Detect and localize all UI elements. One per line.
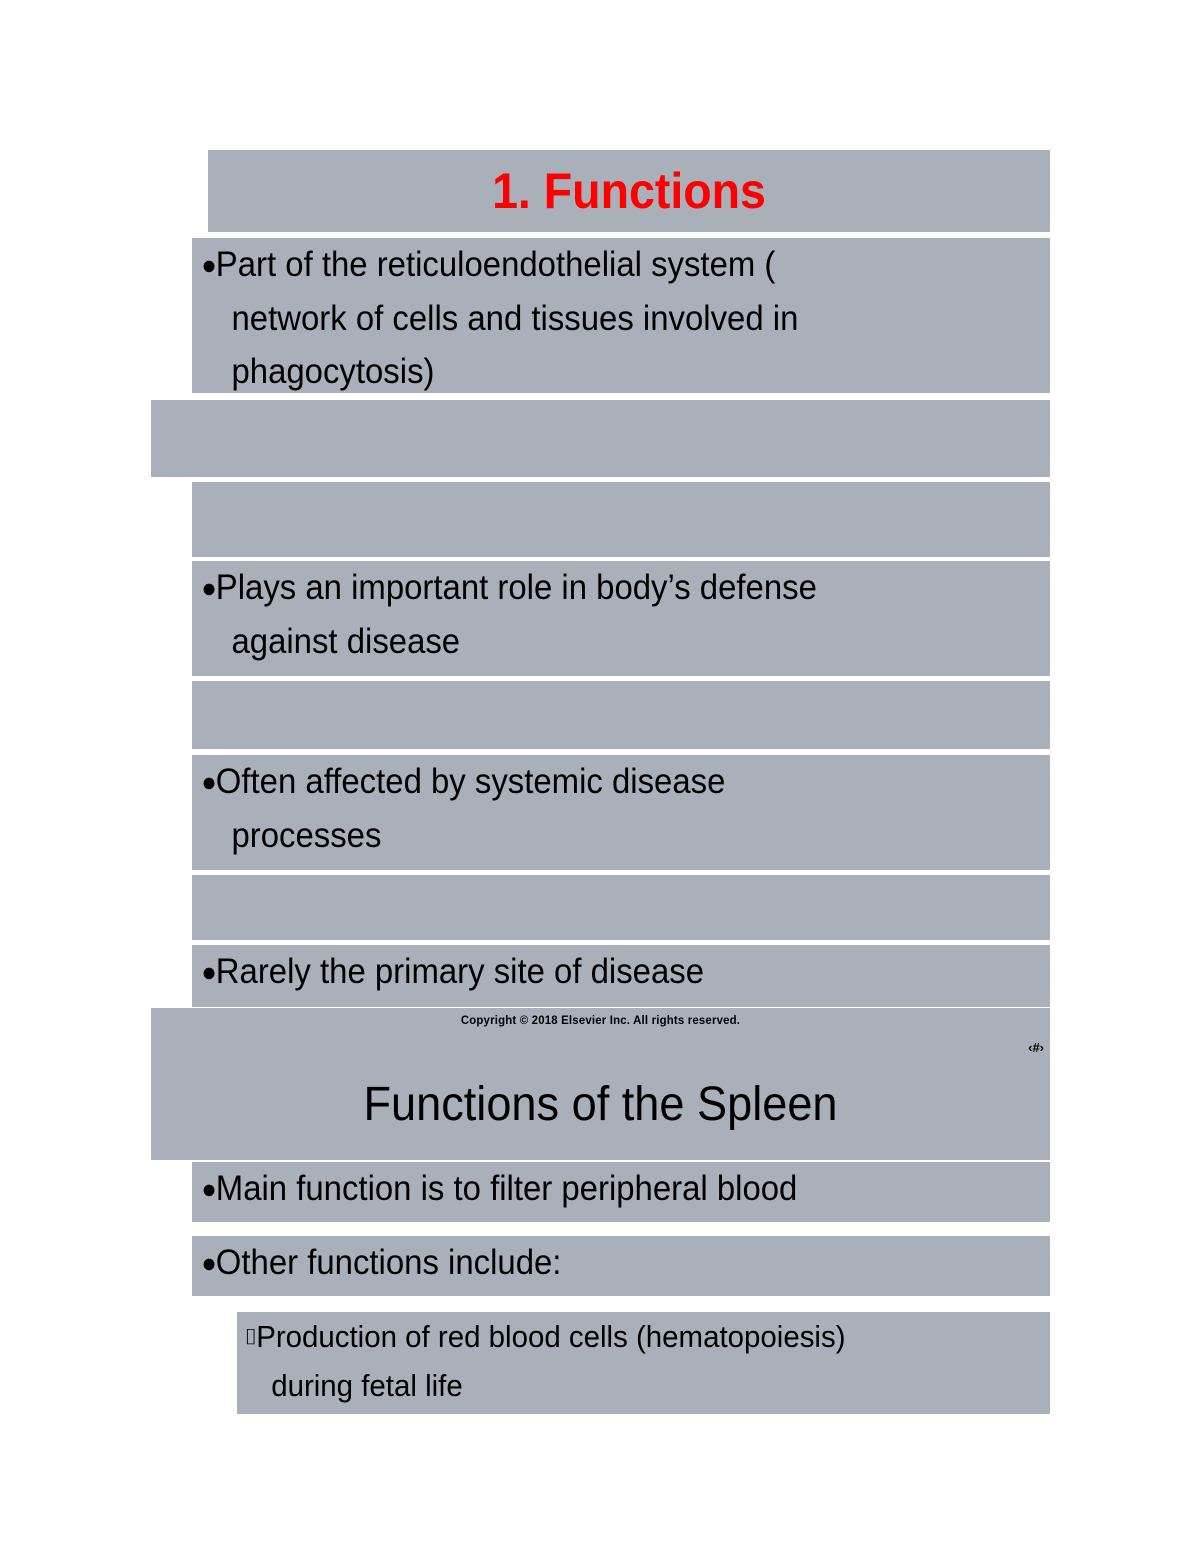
slide1-bullet-2: ●Plays an important role in body’s defen…	[192, 561, 999, 668]
slide1-bullet-4: ●Rarely the primary site of disease	[192, 945, 999, 999]
slide1-blank-band-after-bullet-3	[192, 875, 1050, 940]
slide1-title-band: 1. Functions	[208, 150, 1050, 232]
slide-handout-page: 1. Functions ●Part of the reticuloendoth…	[0, 0, 1200, 1553]
slide2-bullet-2-band: ●Other functions include:	[192, 1236, 1050, 1296]
bullet-disc-icon: ●	[201, 573, 215, 603]
slide1-bullet-3-band: ●Often affected by systemic disease proc…	[192, 755, 1050, 870]
bullet-line-1: Main function is to filter peripheral bl…	[216, 1169, 798, 1208]
bullet-line-1: Often affected by systemic disease	[216, 762, 726, 801]
bullet-disc-icon: ●	[201, 767, 215, 797]
slide1-bullet-1: ●Part of the reticuloendothelial system …	[192, 238, 999, 398]
bullet-line-2: network of cells and tissues involved in	[201, 292, 992, 345]
slide2-sub-bullet-1-band: ⌷Production of red blood cells (hematopo…	[237, 1312, 1050, 1414]
bullet-line-1: Plays an important role in body’s defens…	[216, 568, 817, 607]
bullet-disc-icon: ●	[201, 957, 215, 987]
bullet-disc-icon: ●	[201, 250, 215, 280]
slide-footer-and-slide2-title-band: Copyright © 2018 Elsevier Inc. All right…	[151, 1008, 1050, 1160]
slide1-blank-band-after-bullet-2	[192, 681, 1050, 749]
copyright-notice: Copyright © 2018 Elsevier Inc. All right…	[173, 1013, 1027, 1027]
slide1-blank-band-wide	[151, 400, 1050, 477]
slide2-bullet-1-band: ●Main function is to filter peripheral b…	[192, 1162, 1050, 1222]
bullet-disc-icon: ●	[201, 1174, 215, 1204]
slide1-blank-band-narrow	[192, 482, 1050, 557]
bullet-line-1: Part of the reticuloendothelial system (	[216, 245, 776, 284]
slide2-bullet-2: ●Other functions include:	[192, 1236, 999, 1290]
bullet-line-2: against disease	[201, 615, 992, 668]
bullet-line-1: Other functions include:	[216, 1243, 562, 1282]
sub-bullet-line-2: during fetal life	[245, 1361, 1004, 1410]
sub-bullet-line-1: Production of red blood cells (hematopoi…	[256, 1319, 845, 1354]
bullet-line-3: phagocytosis)	[201, 345, 992, 398]
slide1-bullet-1-band: ●Part of the reticuloendothelial system …	[192, 238, 1050, 393]
bullet-disc-icon: ●	[201, 1248, 215, 1278]
slide1-bullet-4-band: ●Rarely the primary site of disease	[192, 945, 1050, 1007]
slide1-bullet-2-band: ●Plays an important role in body’s defen…	[192, 561, 1050, 676]
bullet-line-1: Rarely the primary site of disease	[216, 952, 704, 991]
slide2-bullet-1: ●Main function is to filter peripheral b…	[192, 1162, 999, 1216]
slide2-title: Functions of the Spleen	[178, 1070, 1023, 1140]
slide2-sub-bullet-1: ⌷Production of red blood cells (hematopo…	[237, 1312, 1009, 1410]
slide1-bullet-3: ●Often affected by systemic disease proc…	[192, 755, 999, 862]
slide1-title: 1. Functions	[237, 150, 1020, 232]
bullet-hollow-square-icon: ⌷	[245, 1324, 257, 1349]
bullet-line-2: processes	[201, 809, 992, 862]
slide-number-placeholder: ‹#›	[1028, 1040, 1044, 1055]
